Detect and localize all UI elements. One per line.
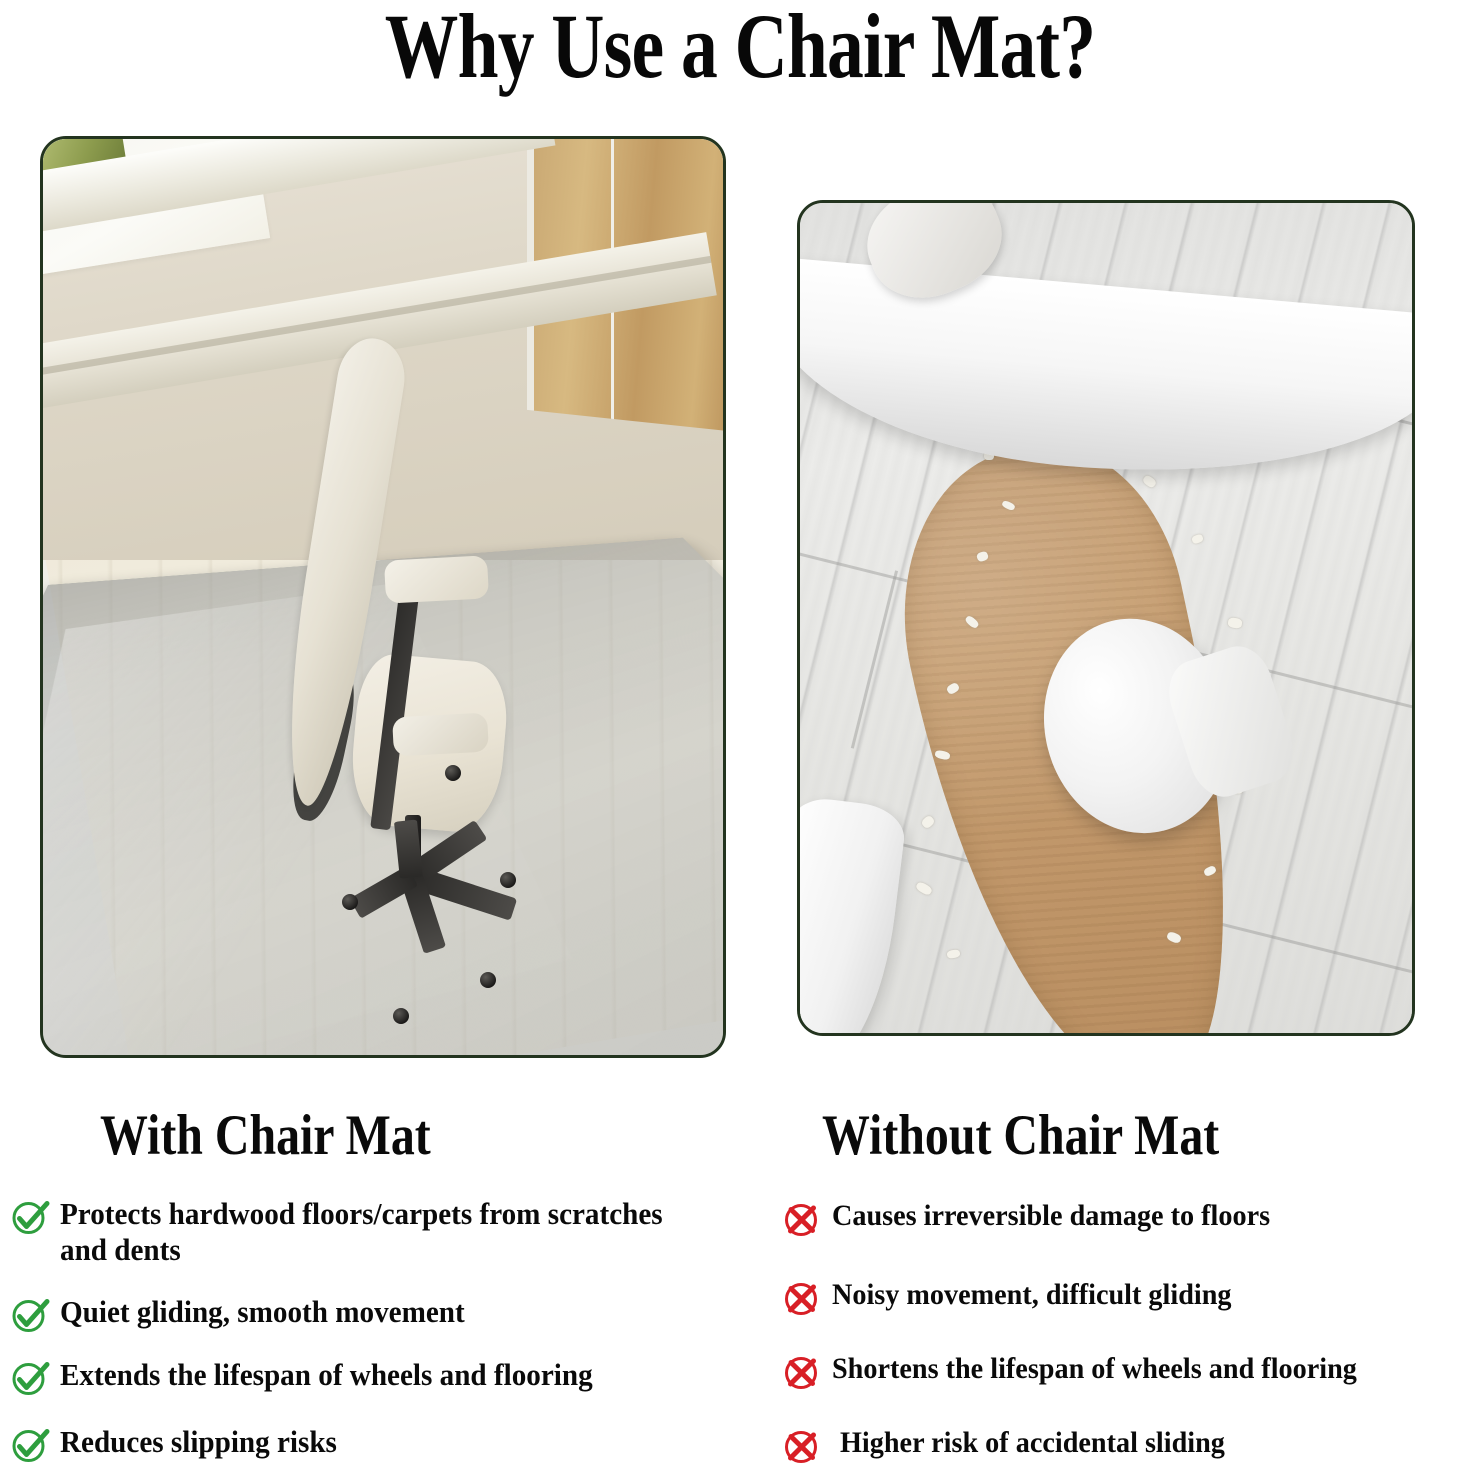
check-circle-icon — [10, 1295, 50, 1335]
pros-list: Protects hardwood floors/carpets from sc… — [10, 1196, 740, 1478]
list-item: Quiet gliding, smooth movement — [10, 1294, 740, 1335]
photo-without-chair-mat — [797, 200, 1415, 1036]
list-item: Causes irreversible damage to floors — [782, 1198, 1480, 1239]
chair-caster — [393, 1008, 409, 1024]
photo-with-chair-mat — [40, 136, 726, 1058]
heading-without-chair-mat: Without Chair Mat — [822, 1106, 1219, 1166]
page-title: Why Use a Chair Mat? — [148, 0, 1332, 94]
damaged-floor-photo — [800, 203, 1412, 1033]
check-circle-icon — [10, 1425, 50, 1465]
cross-circle-icon — [782, 1352, 822, 1392]
list-item: Higher risk of accidental sliding — [782, 1425, 1480, 1466]
list-item-label: Extends the lifespan of wheels and floor… — [60, 1357, 593, 1393]
chair-armrest-lower — [392, 713, 489, 757]
chair-caster — [480, 972, 496, 988]
list-item-label: Higher risk of accidental sliding — [840, 1425, 1225, 1461]
cross-circle-icon — [782, 1278, 822, 1318]
chair-caster — [500, 872, 516, 888]
list-item-label: Protects hardwood floors/carpets from sc… — [60, 1196, 699, 1268]
chair-caster — [342, 894, 358, 910]
cross-circle-icon — [782, 1199, 822, 1239]
list-item-label: Shortens the lifespan of wheels and floo… — [832, 1351, 1357, 1387]
list-item: Shortens the lifespan of wheels and floo… — [782, 1351, 1480, 1392]
check-circle-icon — [10, 1358, 50, 1398]
list-item: Extends the lifespan of wheels and floor… — [10, 1357, 740, 1398]
cons-list: Causes irreversible damage to floors Noi… — [782, 1198, 1480, 1478]
list-item: Reduces slipping risks — [10, 1424, 740, 1465]
list-item: Noisy movement, difficult gliding — [782, 1277, 1480, 1318]
list-item-label: Reduces slipping risks — [60, 1424, 337, 1460]
list-item-label: Quiet gliding, smooth movement — [60, 1294, 465, 1330]
list-item-label: Causes irreversible damage to floors — [832, 1198, 1270, 1234]
list-item: Protects hardwood floors/carpets from sc… — [10, 1196, 740, 1268]
heading-with-chair-mat: With Chair Mat — [100, 1106, 431, 1166]
chair-armrest-upper — [384, 555, 489, 603]
chair-caster — [445, 765, 461, 781]
list-item-label: Noisy movement, difficult gliding — [832, 1277, 1232, 1313]
infographic-page: Why Use a Chair Mat? — [0, 0, 1480, 1478]
chair-on-mat-photo — [43, 139, 723, 1055]
cross-circle-icon — [782, 1426, 822, 1466]
check-circle-icon — [10, 1197, 50, 1237]
office-chair — [220, 322, 614, 1036]
